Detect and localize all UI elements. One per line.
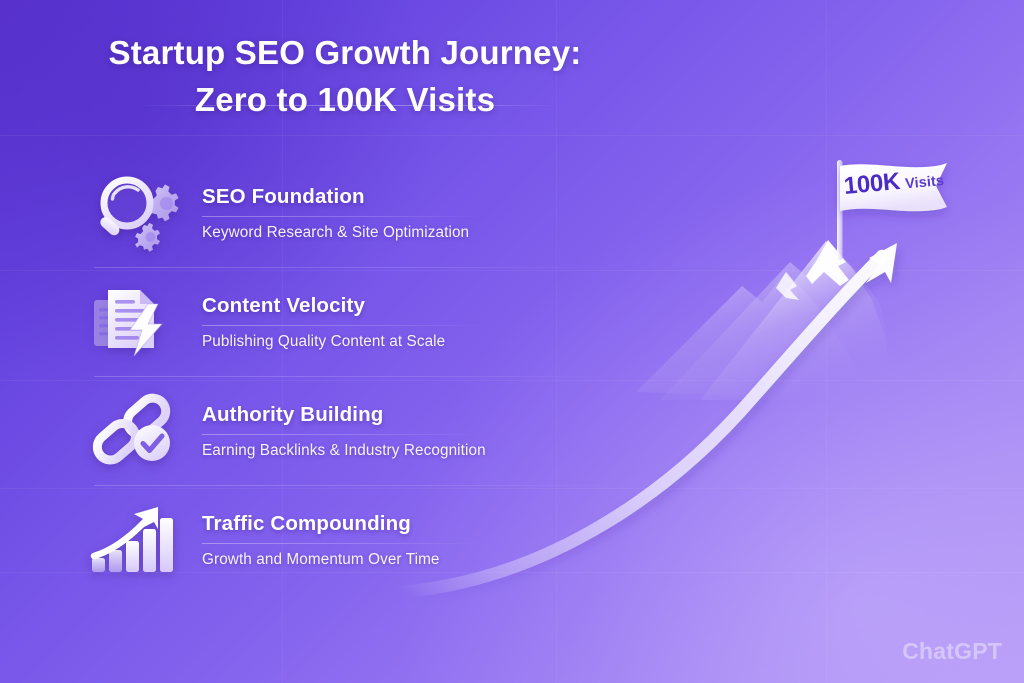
flag-label: 100K Visits [843, 164, 945, 201]
page-title: Startup SEO Growth Journey: Zero to 100K… [0, 30, 690, 124]
list-item-subtitle: Keyword Research & Site Optimization [202, 224, 482, 242]
mountain-main [660, 240, 900, 400]
list-item-heading-rule [202, 434, 482, 435]
list-item-subtitle: Publishing Quality Content at Scale [202, 333, 482, 351]
list-item[interactable]: Authority Building Earning Backlinks & I… [88, 376, 568, 485]
title-line-1: Startup SEO Growth Journey: [0, 30, 690, 77]
title-line-2: Zero to 100K Visits [0, 77, 690, 124]
list-item-heading: Authority Building [202, 403, 486, 427]
list-item-text: Content Velocity Publishing Quality Cont… [202, 292, 482, 351]
mountain-back-ridge [636, 272, 870, 400]
steps-list: SEO Foundation Keyword Research & Site O… [88, 158, 568, 594]
list-item-heading: Traffic Compounding [202, 512, 482, 536]
list-item-heading-rule [202, 325, 482, 326]
magnifier-gears-icon [88, 173, 184, 253]
list-item-heading: Content Velocity [202, 294, 482, 318]
flag-unit: Visits [904, 173, 944, 192]
list-item[interactable]: SEO Foundation Keyword Research & Site O… [88, 158, 568, 267]
mountain-snow-caps [776, 240, 849, 300]
list-item-heading-rule [202, 216, 482, 217]
document-lightning-icon [88, 282, 184, 362]
list-item-text: Traffic Compounding Growth and Momentum … [202, 510, 482, 569]
list-item-subtitle: Earning Backlinks & Industry Recognition [202, 442, 486, 460]
list-item-text: Authority Building Earning Backlinks & I… [202, 401, 486, 460]
list-item-subtitle: Growth and Momentum Over Time [202, 551, 482, 569]
infographic-canvas: 100K Visits Startup SEO Growth Journey: … [0, 0, 1024, 683]
bar-chart-arrow-icon [88, 500, 184, 580]
list-item[interactable]: Content Velocity Publishing Quality Cont… [88, 267, 568, 376]
title-divider [140, 105, 560, 106]
flag-value: 100K [843, 168, 901, 201]
list-item-heading: SEO Foundation [202, 185, 482, 209]
flag-pole [837, 160, 843, 260]
list-item-text: SEO Foundation Keyword Research & Site O… [202, 183, 482, 242]
chatgpt-watermark: ChatGPT [902, 638, 1002, 665]
chain-link-check-icon [88, 391, 184, 471]
list-item[interactable]: Traffic Compounding Growth and Momentum … [88, 485, 568, 594]
list-item-heading-rule [202, 543, 482, 544]
